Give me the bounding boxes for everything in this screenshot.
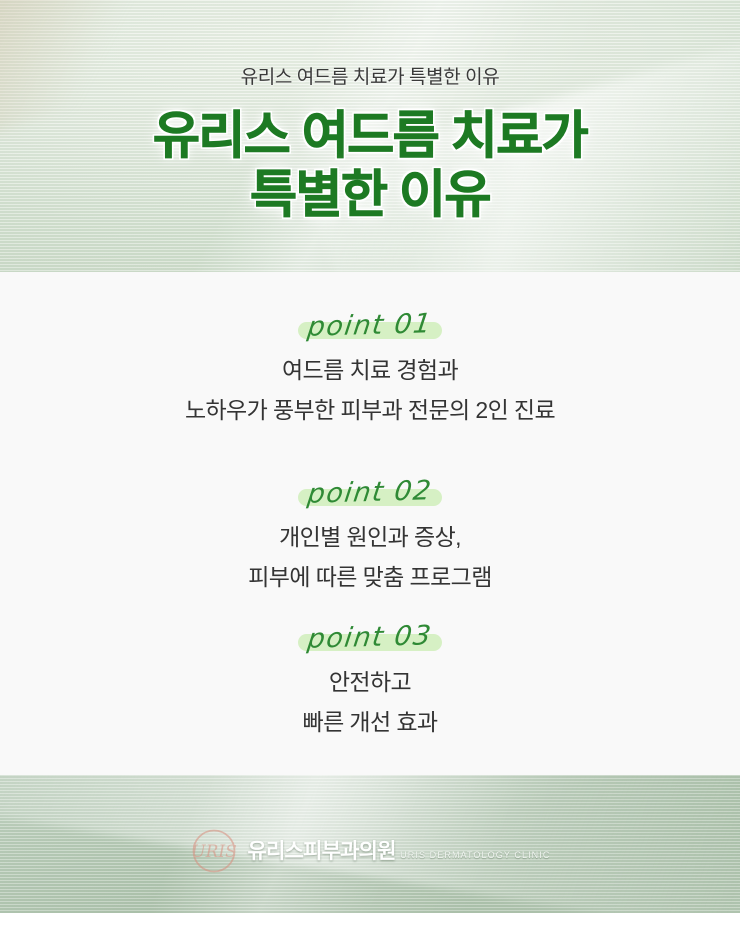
header-subtitle: 유리스 여드름 치료가 특별한 이유 [0, 62, 740, 89]
point-text-2-line-1: 개인별 원인과 증상, [0, 518, 740, 558]
clinic-name-korean: 유리스피부과의원 [248, 840, 396, 863]
header-banner: 유리스 여드름 치료가 특별한 이유 유리스 여드름 치료가 특별한 이유 [0, 0, 740, 274]
point-text-2-line-2: 피부에 따른 맞춤 프로그램 [0, 558, 740, 598]
point-text-1: 여드름 치료 경험과 노하우가 풍부한 피부과 전문의 2인 진료 [0, 351, 740, 430]
svg-text:URIS: URIS [191, 842, 237, 862]
page-title: 유리스 여드름 치료가 특별한 이유 [0, 106, 740, 224]
point-block-2: point 02 개인별 원인과 증상, 피부에 따른 맞춤 프로그램 [0, 477, 740, 597]
point-block-3: point 03 안전하고 빠른 개선 효과 [0, 622, 740, 742]
clinic-name-group: 유리스피부과의원 URIS DERMATOLOGY CLINIC [248, 841, 551, 862]
point-label-wrap-2: point 02 [290, 477, 450, 508]
point-text-3: 안전하고 빠른 개선 효과 [0, 663, 740, 742]
page-title-line-1: 유리스 여드름 치료가 [0, 106, 740, 165]
point-text-1-line-2: 노하우가 풍부한 피부과 전문의 2인 진료 [0, 391, 740, 431]
point-label-1: point 01 [302, 308, 438, 343]
point-label-2: point 02 [302, 475, 438, 510]
promo-page: 유리스 여드름 치료가 특별한 이유 유리스 여드름 치료가 특별한 이유 po… [0, 0, 740, 925]
clinic-name-english: URIS DERMATOLOGY CLINIC [400, 850, 550, 860]
points-section: point 01 여드름 치료 경험과 노하우가 풍부한 피부과 전문의 2인 … [0, 272, 740, 775]
page-title-line-2: 특별한 이유 [0, 165, 740, 224]
point-text-3-line-2: 빠른 개선 효과 [0, 703, 740, 743]
point-label-wrap-1: point 01 [290, 310, 450, 341]
point-label-3: point 03 [302, 620, 438, 655]
point-text-3-line-1: 안전하고 [0, 663, 740, 703]
clinic-logo: URIS 유리스피부과의원 URIS DERMATOLOGY CLINIC [0, 827, 740, 875]
bottom-white-strip [0, 913, 740, 925]
point-text-2: 개인별 원인과 증상, 피부에 따른 맞춤 프로그램 [0, 518, 740, 597]
point-block-1: point 01 여드름 치료 경험과 노하우가 풍부한 피부과 전문의 2인 … [0, 310, 740, 430]
point-label-wrap-3: point 03 [290, 622, 450, 653]
footer-banner: URIS 유리스피부과의원 URIS DERMATOLOGY CLINIC [0, 775, 740, 913]
point-text-1-line-1: 여드름 치료 경험과 [0, 351, 740, 391]
uris-monogram-icon: URIS [190, 827, 238, 875]
